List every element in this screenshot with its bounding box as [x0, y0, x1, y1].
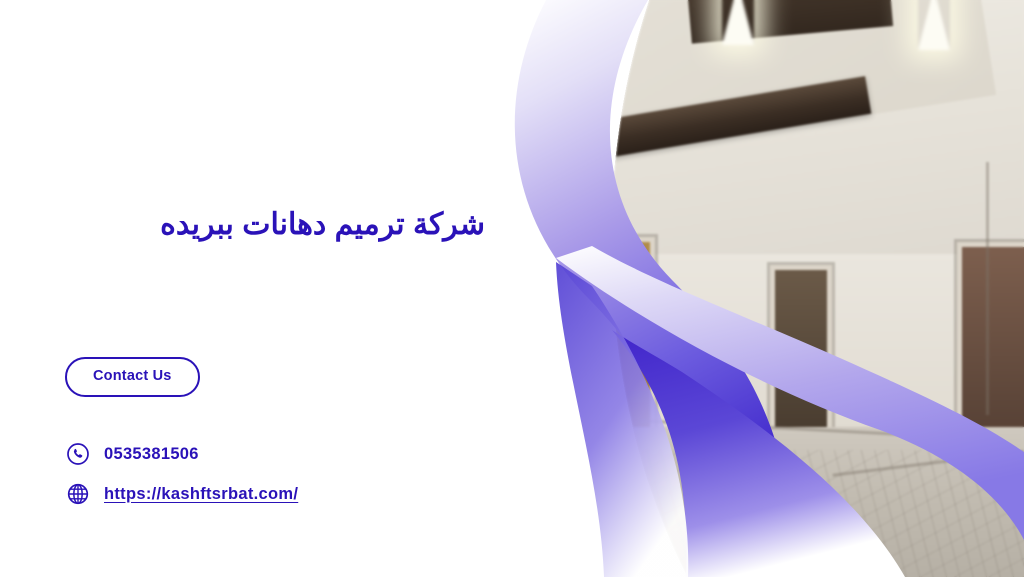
- hero-photo-image: [544, 0, 1024, 577]
- hero-photo: [544, 0, 1024, 577]
- phone-circle-icon: [66, 442, 90, 466]
- page-title: شركة ترميم دهانات ببريده: [65, 206, 485, 244]
- photo-pendant-light-2: [918, 0, 950, 50]
- photo-floor-pattern: [544, 450, 1024, 577]
- phone-row[interactable]: 0535381506: [66, 442, 199, 466]
- globe-icon: [66, 482, 90, 506]
- contact-us-button[interactable]: Contact Us: [65, 357, 200, 397]
- promo-banner: شركة ترميم دهانات ببريده Contact Us 0535…: [0, 0, 1024, 577]
- website-link[interactable]: https://kashftsrbat.com/: [104, 486, 298, 503]
- website-row[interactable]: https://kashftsrbat.com/: [66, 482, 298, 506]
- photo-conduit-3: [986, 162, 989, 416]
- phone-number: 0535381506: [104, 446, 199, 463]
- content-column: شركة ترميم دهانات ببريده Contact Us 0535…: [65, 0, 485, 577]
- photo-pendant-light-1: [722, 0, 754, 45]
